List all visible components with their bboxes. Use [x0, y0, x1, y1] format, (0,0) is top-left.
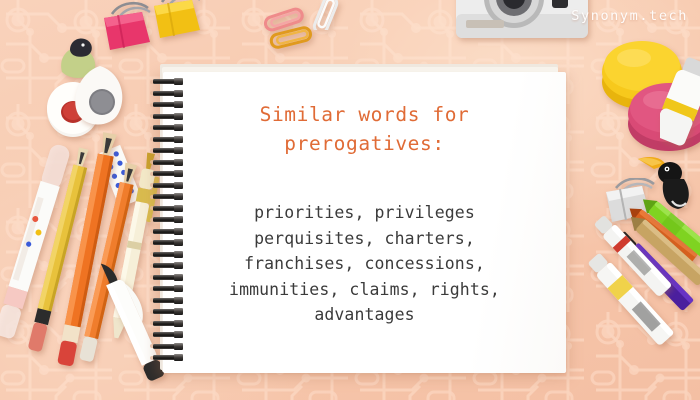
gold-paper-clip: [268, 24, 314, 52]
site-watermark: Synonym.tech: [571, 8, 688, 24]
page-content: Similar words for prerogatives: prioriti…: [163, 72, 566, 373]
gray-stamp-eraser: [68, 62, 132, 130]
pink-binder-clip: [100, 0, 160, 52]
white-marker-lower: [560, 236, 700, 370]
spiral-notebook: Similar words for prerogatives: prioriti…: [150, 70, 566, 375]
glue-bottle: [660, 56, 700, 148]
page-title: Similar words for prerogatives:: [260, 100, 470, 158]
synonym-list: priorities, privileges perquisites, char…: [229, 200, 500, 328]
